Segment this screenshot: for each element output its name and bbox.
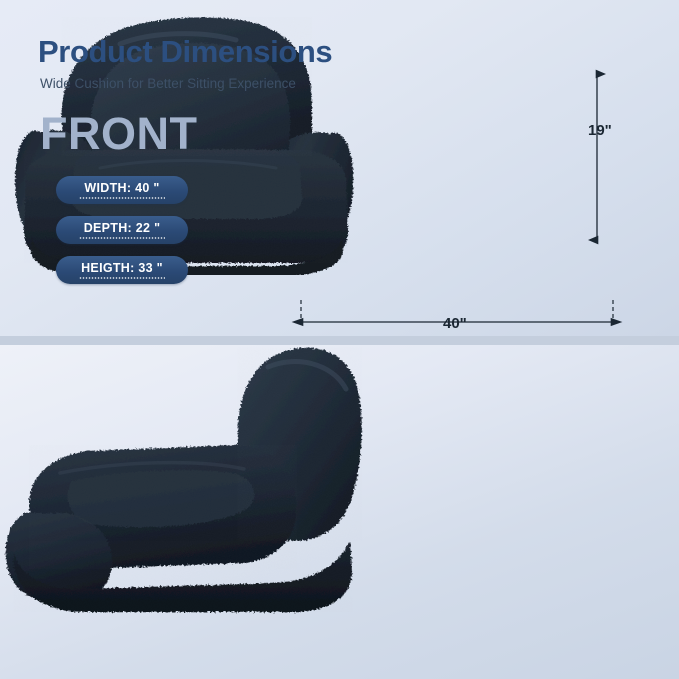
spec-depth-text: DEPTH: 22 " — [84, 222, 161, 235]
pill-dotted-rule — [79, 277, 165, 279]
product-dimensions-infographic: Product Dimensions Wide Cushion for Bett… — [0, 0, 679, 679]
page-subtitle: Wide Cushion for Better Sitting Experien… — [40, 76, 296, 91]
lounge-chair-side-view-icon — [0, 345, 370, 625]
pill-dotted-rule — [79, 237, 165, 239]
side-view-panel: *No Assembly Required SIDE WEIGHT: 34.6l… — [0, 345, 679, 679]
chair-side-view-image — [0, 345, 370, 625]
spec-height-text: HEIGTH: 33 " — [81, 262, 163, 275]
front-view-panel: Product Dimensions Wide Cushion for Bett… — [0, 0, 679, 336]
pill-dotted-rule — [79, 197, 165, 199]
page-title: Product Dimensions — [38, 34, 332, 70]
panel-divider — [0, 336, 679, 345]
front-view-label: FRONT — [40, 108, 197, 160]
spec-pill-width: WIDTH: 40 " — [56, 176, 188, 204]
dimension-label-40: 40" — [443, 315, 467, 332]
dimension-label-19: 19" — [588, 122, 612, 139]
spec-width-text: WIDTH: 40 " — [84, 182, 159, 195]
dimension-arrow-19-inches — [584, 68, 610, 246]
spec-pill-depth: DEPTH: 22 " — [56, 216, 188, 244]
spec-pill-height: HEIGTH: 33 " — [56, 256, 188, 284]
